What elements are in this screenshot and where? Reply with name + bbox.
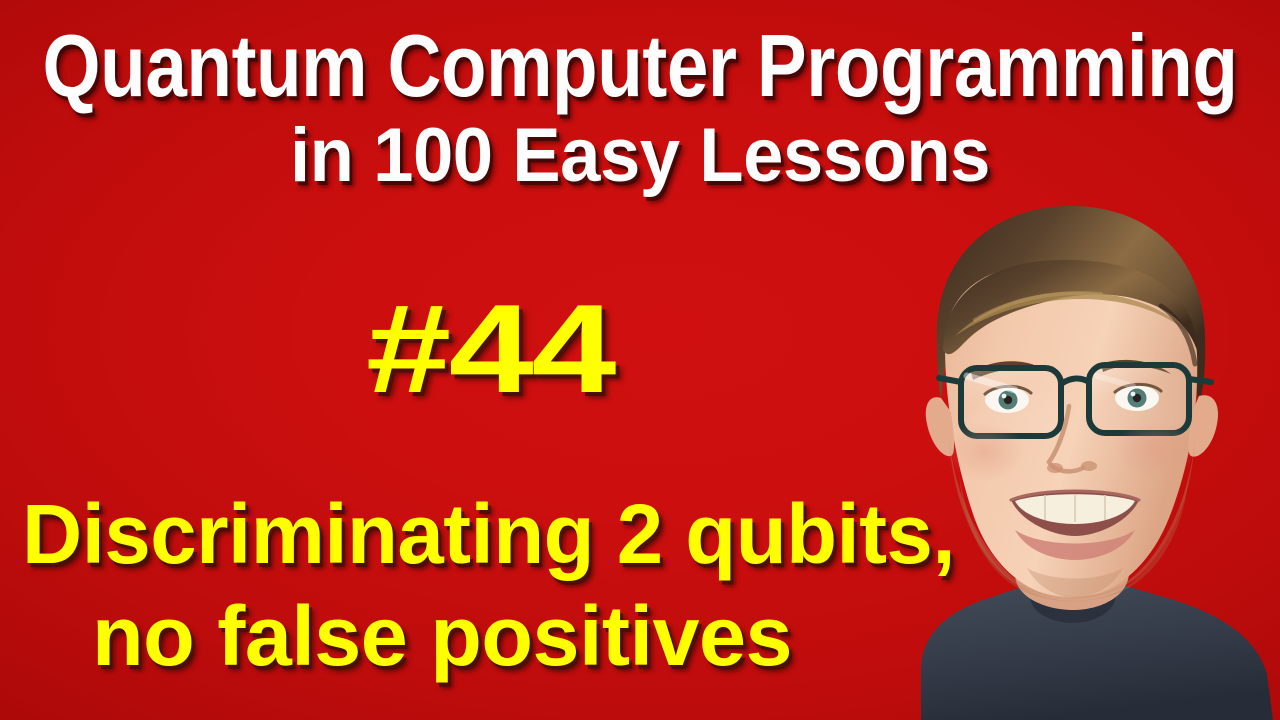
presenter-eyebrows <box>971 360 1171 380</box>
lesson-subtitle-line-2: no false positives <box>92 594 792 678</box>
series-title-line-2: in 100 Easy Lessons <box>290 118 990 194</box>
lesson-subtitle-line-1: Discriminating 2 qubits, <box>22 492 955 576</box>
presenter-nose <box>1047 406 1097 473</box>
presenter-head <box>926 206 1218 601</box>
presenter-neck <box>1015 518 1129 610</box>
presenter-eyes <box>985 384 1161 413</box>
video-thumbnail: Quantum Computer Programming in 100 Easy… <box>0 0 1280 720</box>
series-title-line-1: Quantum Computer Programming <box>43 22 1238 110</box>
presenter-mouth <box>1011 491 1139 560</box>
presenter-shirt <box>921 581 1273 720</box>
presenter-glasses <box>939 365 1211 436</box>
episode-number-label: #44 <box>366 286 614 412</box>
presenter-portrait <box>915 200 1280 720</box>
